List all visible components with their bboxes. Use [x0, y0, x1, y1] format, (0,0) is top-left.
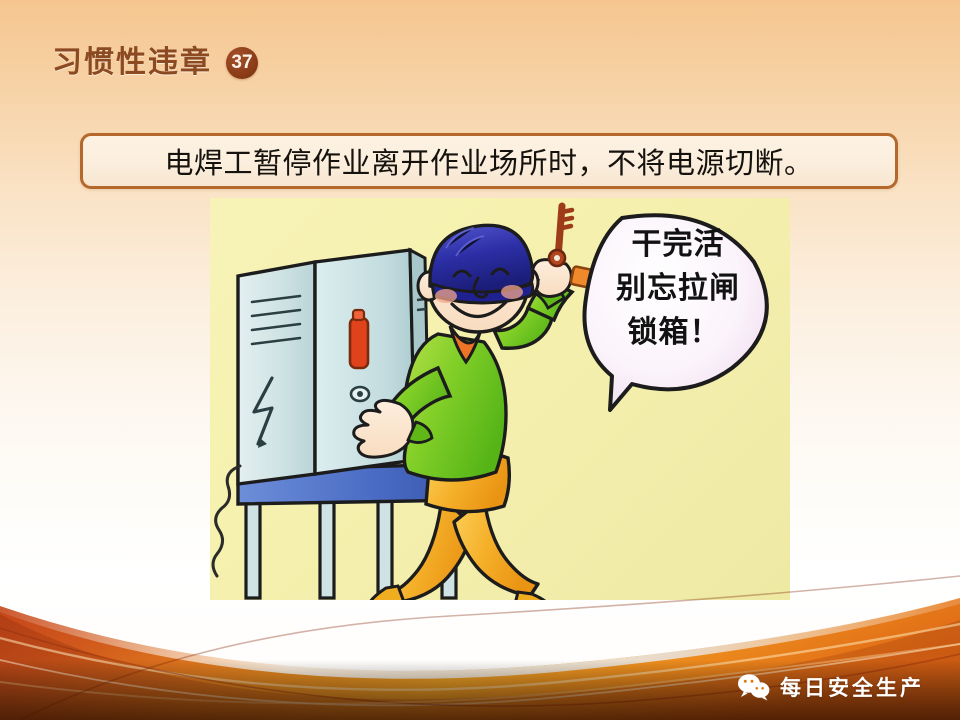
bubble-line-2: 别忘拉闸: [616, 271, 740, 305]
title-number-badge: 37: [226, 47, 258, 79]
slide-root: 习惯性违章 37 电焊工暂停作业离开作业场所时，不将电源切断。: [0, 0, 960, 720]
bubble-line-1: 干完活: [632, 227, 725, 261]
statement-text: 电焊工暂停作业离开作业场所时，不将电源切断。: [164, 140, 813, 182]
bubble-line-3: 锁箱！: [628, 316, 721, 349]
worker-left-leg: [392, 498, 474, 600]
wechat-icon: [737, 673, 771, 701]
watermark-text: 每日安全生产: [780, 672, 924, 702]
page-title: 习惯性违章: [52, 48, 212, 78]
worker-left-cheek: [435, 289, 457, 303]
cabinet-indicator-cap: [353, 310, 364, 320]
swoosh-dark: [0, 614, 960, 720]
power-cable: [213, 466, 240, 576]
statement-box: 电焊工暂停作业离开作业场所时，不将电源切断。: [80, 133, 898, 189]
swoosh-highlight-edge: [0, 596, 960, 679]
key-icon: [549, 206, 572, 266]
illustration-artwork: 干完活 别忘拉闸 锁箱！: [210, 198, 790, 600]
worker-left-shoe: [370, 586, 404, 600]
worker-right-shoe: [514, 592, 550, 600]
cabinet-keyhole-pin: [357, 391, 363, 397]
illustration-panel: 干完活 别忘拉闸 锁箱！: [210, 198, 790, 600]
cabinet-indicator: [350, 318, 368, 368]
watermark: 每日安全生产: [737, 672, 924, 702]
worker-right-cheek: [501, 285, 523, 299]
worker-cap: [430, 225, 533, 292]
cabinet-body-left: [238, 262, 315, 484]
speech-bubble-group: 干完活 别忘拉闸 锁箱！: [584, 215, 766, 410]
slide-title-row: 习惯性违章 37: [52, 47, 258, 79]
